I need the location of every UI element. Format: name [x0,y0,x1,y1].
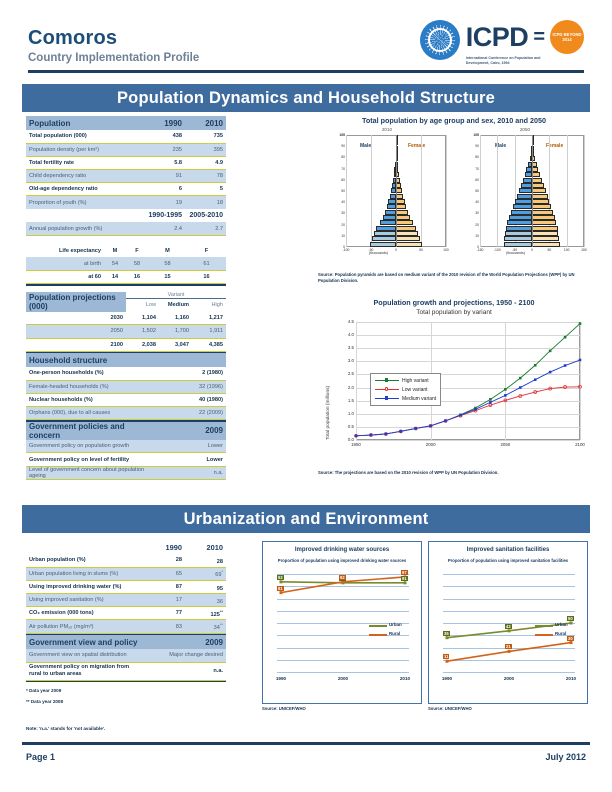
row-label: One-person households (%) [26,367,156,380]
cell: 40 (1980) [156,393,226,406]
growth-marker [489,401,492,404]
table-row: at 60 14 16 15 16 [26,270,226,283]
row-value-1990: 235 [144,143,185,156]
growth-marker [504,388,507,391]
cell: 1,502 [126,325,159,338]
data-marker [446,660,449,663]
pyramid-ytick: 10 [333,234,345,238]
row-label: at birth [26,257,104,270]
pyramid-xtick: -50 [366,248,376,252]
sex-f-1990: F [126,244,148,257]
cell: 1,911 [192,325,226,338]
section-title: Government policies and concern [26,422,156,440]
data-marker [508,629,511,632]
pyramid-bar-female [396,210,408,215]
cell: 22 (2009) [156,407,226,420]
table-row: Population density (per km²) 235 395 [26,143,226,156]
pyramid-bar-male [513,204,532,209]
row-label: Government policy on migration from rura… [26,662,144,680]
table-row: Using improved sanitation (%) 17 36 [26,594,226,607]
population-pyramid-2050: 2050 Male Female (thousands) -150-100-50… [460,127,590,267]
table-row: 2050 1,502 1,700 1,911 [26,325,226,338]
pyramid-gridline [421,135,422,247]
population-table: Population 1990 2010 Total population (0… [26,116,226,236]
variant-medium: Medium [159,299,192,312]
growth-chart-subtitle: Total population by variant [318,309,590,316]
pyramid-ytick: 80 [333,155,345,159]
row-label: Nuclear households (%) [26,393,156,406]
legend-label: High variant [402,378,429,384]
cell: 1,160 [159,312,192,325]
table-row: 2100 2,038 3,047 4,385 [26,338,226,351]
table-header-row: 1990 2010 [26,540,226,554]
pyramid-bar-female [396,242,422,247]
table-row: Government policy on level of fertility … [26,453,226,466]
pyramid-bar-female [532,178,542,183]
table-row: Level of government concern about popula… [26,466,226,479]
row-label: Using improved drinking water (%) [26,580,144,593]
data-marker [570,641,573,644]
pyramid-bar-female [532,242,560,247]
pyramid-xtick: 50 [416,248,426,252]
row-label: CO₂ emission (000 tons) [26,607,144,620]
row-value-2010: 95 [185,580,226,593]
data-label: 92 [277,575,284,580]
cell: 14 [104,270,126,283]
pyramid-bar-female [396,204,406,209]
row-label: Orphans (000), due to all causes [26,407,156,420]
cell: 1,700 [159,325,192,338]
government-header: Government policies and concern 2009 [26,422,226,440]
pyramid-gridline [584,135,585,247]
variant-high: High [192,299,226,312]
table-row: Total fertility rate 5.8 4.9 [26,156,226,169]
table-row: 2030 1,104 1,160 1,217 [26,312,226,325]
pyramid-bar-female [532,199,549,204]
row-label: Urban population living in slums (%) [26,567,144,580]
growth-marker [549,350,552,353]
table-header-row: Population 1990 2010 [26,116,226,130]
table-row: Female-headed households (%) 32 (1996) [26,380,226,393]
period-1990-1995: 1990-1995 [144,209,185,222]
population-projections-table: Population projections (000) Variant Low… [26,292,226,353]
cell: Lower [156,440,226,453]
pyramid-ytick: 60 [333,178,345,182]
x-axis-tick: 2010 [396,676,414,681]
data-label: 35 [443,631,450,636]
row-value-2010: 5 [185,183,226,196]
growth-marker [370,434,373,437]
legend-label: Rural [555,631,566,636]
pyramid-bar-male [506,226,532,231]
legend-swatch [369,625,387,627]
section-banner-population: Population Dynamics and Household Struct… [22,84,590,112]
pyramid-ytick: 0 [467,245,479,249]
cell: n.a. [156,466,226,479]
pyramid-bar-male [380,220,397,225]
growth-marker [474,408,477,411]
divider-row [26,680,226,682]
col-2010: 2010 [185,116,226,130]
pyramid-ytick: 0 [333,245,345,249]
sex-m-1990: M [104,244,126,257]
cell: 1,217 [192,312,226,325]
pyramid-bar-male [519,188,532,193]
data-marker [404,581,407,584]
row-value-2010: 125** [185,607,226,620]
pyramid-ytick: 90 [467,144,479,148]
un-emblem-icon [420,20,460,60]
male-label: Male [360,143,371,149]
pyramid-chart-title: Total population by age group and sex, 2… [318,116,590,125]
row-value-1990: 438 [144,130,185,143]
pyramid-bar-male [523,178,532,183]
row-label: Government view on spatial distribution [26,649,144,662]
pyramid-ytick: 40 [467,200,479,204]
cell: Lower [156,453,226,466]
footnote-mark: ** [220,609,223,614]
pyramid-bar-female [396,236,420,241]
footnote-2: ** Data year 2008 [26,699,63,704]
growth-series-svg [320,318,588,466]
growth-marker [400,430,403,433]
pyramid-ytick: 30 [467,211,479,215]
row-label: Government policy on level of fertility [26,453,156,466]
cell: 16 [126,270,148,283]
pyramid-ytick: 50 [467,189,479,193]
data-marker [570,622,573,625]
pyramid-ytick: 90 [333,144,345,148]
section-banner-urbanization: Urbanization and Environment [22,505,590,533]
row-value-2010: 18 [185,196,226,209]
table-row: Urban population (%) 28 28 [26,554,226,567]
growth-marker [534,364,537,367]
row-value-2010: 69* [185,567,226,580]
page-subtitle: Country Implementation Profile [28,52,199,64]
pyramid-gridline [371,135,372,247]
sex-f-2010: F [187,244,226,257]
header-divider [28,70,584,73]
pyramid-bar-male [374,231,396,236]
data-marker [280,580,283,583]
pyramid-bar-male [507,220,532,225]
pyramid-bar-female [396,231,418,236]
page-title: Comoros [28,27,117,50]
row-label: Air pollution PM₁₀ (mg/m³) [26,620,144,633]
footer-divider [22,742,590,745]
legend-swatch [375,380,399,381]
pyramid-bar-female [396,194,403,199]
pyramid-xtick: 0 [527,248,537,252]
pyramid-bar-female [396,215,410,220]
page-header: Comoros Country Implementation Profile I… [0,0,612,78]
data-label: 97 [401,570,408,575]
row-value-1990: 77 [144,607,185,620]
pyramid-bar-male [505,231,532,236]
row-value-1990: 91 [144,170,185,183]
improved-drinking-water-chart: Improved drinking water sources Proporti… [262,541,422,704]
pyramid-gridline [346,135,347,247]
legend-marker [385,378,388,381]
row-value-p2: 2.7 [185,222,226,235]
table-row: Total population (000) 438 735 [26,130,226,143]
sex-m-2010: M [148,244,187,257]
data-label: 21 [505,644,512,649]
row-label: Urban population (%) [26,554,144,567]
growth-marker [564,364,567,367]
row-value-1990: 19 [144,196,185,209]
icpd-logo: ICPD = ICPD BEYOND 2014 International Co… [466,20,584,67]
pyramid-bar-female [532,188,546,193]
row-label: Population density (per km²) [26,143,144,156]
cell: Major change desired [144,649,226,662]
pyramid-bar-male [521,183,532,188]
equals-icon: = [533,26,545,49]
life-expectancy-table: Life expectancy M F M F at birth 54 58 5… [26,244,226,286]
table-row: Urban population living in slums (%) 65 … [26,567,226,580]
table-row: Annual population growth (%) 2.4 2.7 [26,222,226,235]
pyramid-xtick: 100 [441,248,451,252]
government-header: Government view and policy 2009 [26,635,226,649]
legend-swatch [535,634,553,636]
table-row: Using improved drinking water (%) 87 95 [26,580,226,593]
cell: 54 [104,257,126,270]
cell: 58 [126,257,148,270]
cell: 4,385 [192,338,226,351]
x-axis-tick: 1990 [438,676,456,681]
row-value-2010: 34** [185,620,226,633]
pyramid-gridline [567,135,568,247]
cell: 32 (1996) [156,380,226,393]
section-title: Population projections (000) [26,292,126,312]
pyramid-bar-female [532,236,559,241]
growth-marker [579,322,582,325]
population-pyramid-2010: 2010 Male Female (thousands) -100-500501… [324,127,450,267]
pyramid-axis [396,135,397,247]
col-1990: 1990 [144,116,185,130]
row-label: Old-age dependency ratio [26,183,144,196]
row-value-2010: 28 [185,554,226,567]
col-2010: 2010 [185,540,226,554]
row-value-2010: 36 [185,594,226,607]
pyramid-bar-male [372,236,396,241]
pyramid-bar-male [370,242,397,247]
pyramid-bar-male [515,199,532,204]
variant-low: Low [126,299,159,312]
row-value-p1: 2.4 [144,222,185,235]
pyramid-bar-male [525,172,532,177]
pyramid-bar-female [532,231,558,236]
row-label: Government policy on population growth [26,440,156,453]
growth-marker [355,435,358,438]
pyramid-bar-male [509,215,532,220]
growth-marker [534,378,537,381]
x-axis-tick: 1990 [272,676,290,681]
row-label: Level of government concern about popula… [26,466,156,479]
pyramid-bar-female [532,194,548,199]
data-label: 92 [339,575,346,580]
pyramid-ytick: 105 [467,133,479,137]
growth-marker [564,336,567,339]
legend-marker [385,387,388,390]
data-label: 11 [443,654,449,659]
pyramid-ytick: 50 [333,189,345,193]
female-label: Female [408,143,425,149]
pyramid-xtick: 150 [579,248,589,252]
pyramid-bar-male [385,210,396,215]
growth-marker [414,427,417,430]
row-value-1990: 6 [144,183,185,196]
growth-marker [519,386,522,389]
data-label: 50 [567,616,574,621]
pyramid-ytick: 10 [467,234,479,238]
pyramid-ytick: 70 [333,167,345,171]
life-expectancy-header: Life expectancy M F M F [26,244,226,257]
pyramid-ytick: 30 [333,211,345,215]
legend-item: Medium variant [375,394,436,403]
row-value-1990: 65 [144,567,185,580]
cell: 2,038 [126,338,159,351]
x-axis-tick: 2010 [562,676,580,681]
growth-marker [444,420,447,423]
data-marker [508,650,511,653]
pyramid-source: Source: Population pyramids are based on… [318,272,588,284]
pyramid-xtick: 0 [391,248,401,252]
pyramid-bar-male [388,199,396,204]
section-title: Household structure [26,353,226,367]
pyramid-bar-female [532,172,540,177]
legend-swatch [375,398,399,399]
legend-label: Urban [555,622,568,627]
legend-label: Urban [389,622,402,627]
legend-label: Rural [389,631,400,636]
growth-marker [489,398,492,401]
urbanization-table: 1990 2010 Urban population (%) 28 28 Urb… [26,540,226,682]
growth-marker [429,425,432,428]
pyramid-ytick: 40 [333,200,345,204]
table-row: Old-age dependency ratio 6 5 [26,183,226,196]
growth-marker [549,371,552,374]
sanitation-chart-source: Source: UNICEF/WHO [428,706,472,712]
pyramid-ytick: 60 [467,178,479,182]
data-label: 42 [505,624,512,629]
growth-marker [579,359,582,362]
pyramid-bar-male [517,194,532,199]
cell: 1,104 [126,312,159,325]
row-value-2010: 395 [185,143,226,156]
table-row: Air pollution PM₁₀ (mg/m³) 83 34** [26,620,226,633]
pyramid-xtick: 50 [544,248,554,252]
growth-chart-source: Source: The projections are based on the… [318,470,590,476]
pyramid-bar-female [532,183,544,188]
pyramid-year: 2050 [460,127,590,132]
growth-marker [459,414,462,417]
household-header: Household structure [26,353,226,367]
table-row: Government policy on migration from rura… [26,662,226,680]
footnote-mark: ** [220,622,223,627]
pyramid-ytick: 20 [333,223,345,227]
legend-swatch [535,625,553,627]
improved-sanitation-chart: Improved sanitation facilities Proportio… [428,541,588,704]
availability-note: Note: 'n.a.' stands for 'not available'. [26,726,105,731]
growth-chart-legend: High variantLow variantMedium variant [370,373,441,406]
data-marker [446,636,449,639]
divider-row [26,284,226,286]
row-value-2010: 735 [185,130,226,143]
legend-item: High variant [375,376,436,385]
pyramid-bar-female [532,204,551,209]
pyramid-xtick: -50 [510,248,520,252]
row-label: 2030 [26,312,126,325]
footer-date: July 2012 [545,752,586,762]
row-label: Using improved sanitation (%) [26,594,144,607]
period-header-row: 1990-1995 2005-2010 [26,209,226,222]
pyramid-bar-male [376,226,396,231]
footnote-mark: * [221,569,223,574]
table-row: Government policy on population growth L… [26,440,226,453]
row-label: Female-headed households (%) [26,380,156,393]
cell: 58 [148,257,187,270]
section-title: Government view and policy [26,635,144,649]
section-year: 2009 [156,422,226,440]
table-row: Proportion of youth (%) 19 18 [26,196,226,209]
legend-swatch [375,389,399,390]
table-row: One-person households (%) 2 (1980) [26,367,226,380]
legend-swatch [369,634,387,636]
row-label: Proportion of youth (%) [26,196,144,209]
household-structure-table: Household structure One-person household… [26,353,226,480]
legend-marker [385,396,388,399]
pyramid-bar-female [532,215,555,220]
pyramid-bar-female [396,220,413,225]
col-label: Population [26,116,144,130]
pyramid-xtick: -100 [492,248,502,252]
icpd-caption: International Conference on Population a… [466,56,558,67]
pyramid-xtick: 100 [562,248,572,252]
cell: 15 [148,270,187,283]
period-2005-2010: 2005-2010 [185,209,226,222]
row-value-2010: 4.9 [185,156,226,169]
footnote-1: * Data year 2009 [26,688,61,693]
population-growth-chart: Total population (millions) 0.00.51.01.5… [320,318,588,466]
x-axis-tick: 2000 [334,676,352,681]
pyramid-bar-male [511,210,532,215]
logo-group: ICPD = ICPD BEYOND 2014 International Co… [420,20,584,68]
table-row: Nuclear households (%) 40 (1980) [26,393,226,406]
data-label: 30 [567,636,574,641]
section-year: 2009 [144,635,226,649]
growth-marker [385,433,388,436]
row-value-2010: 78 [185,170,226,183]
footer-page-number: Page 1 [26,752,55,762]
table-row: Government view on spatial distribution … [26,649,226,662]
cell: 3,047 [159,338,192,351]
pyramid-gridline [497,135,498,247]
pyramid-year: 2010 [324,127,450,132]
legend-label: Low variant [402,387,428,393]
row-value-1990: 87 [144,580,185,593]
cell: n.a. [144,662,226,680]
row-value-1990: 17 [144,594,185,607]
water-chart-source: Source: UNICEF/WHO [262,706,306,712]
pyramid-bar-male [383,215,397,220]
table-row: CO₂ emission (000 tons) 77 125** [26,607,226,620]
pyramid-ytick: 80 [467,155,479,159]
icpd-wordmark: ICPD [466,24,529,51]
data-label: 81 [277,586,284,591]
legend-item: Low variant [375,385,436,394]
growth-chart-title: Population growth and projections, 1950 … [318,298,590,307]
